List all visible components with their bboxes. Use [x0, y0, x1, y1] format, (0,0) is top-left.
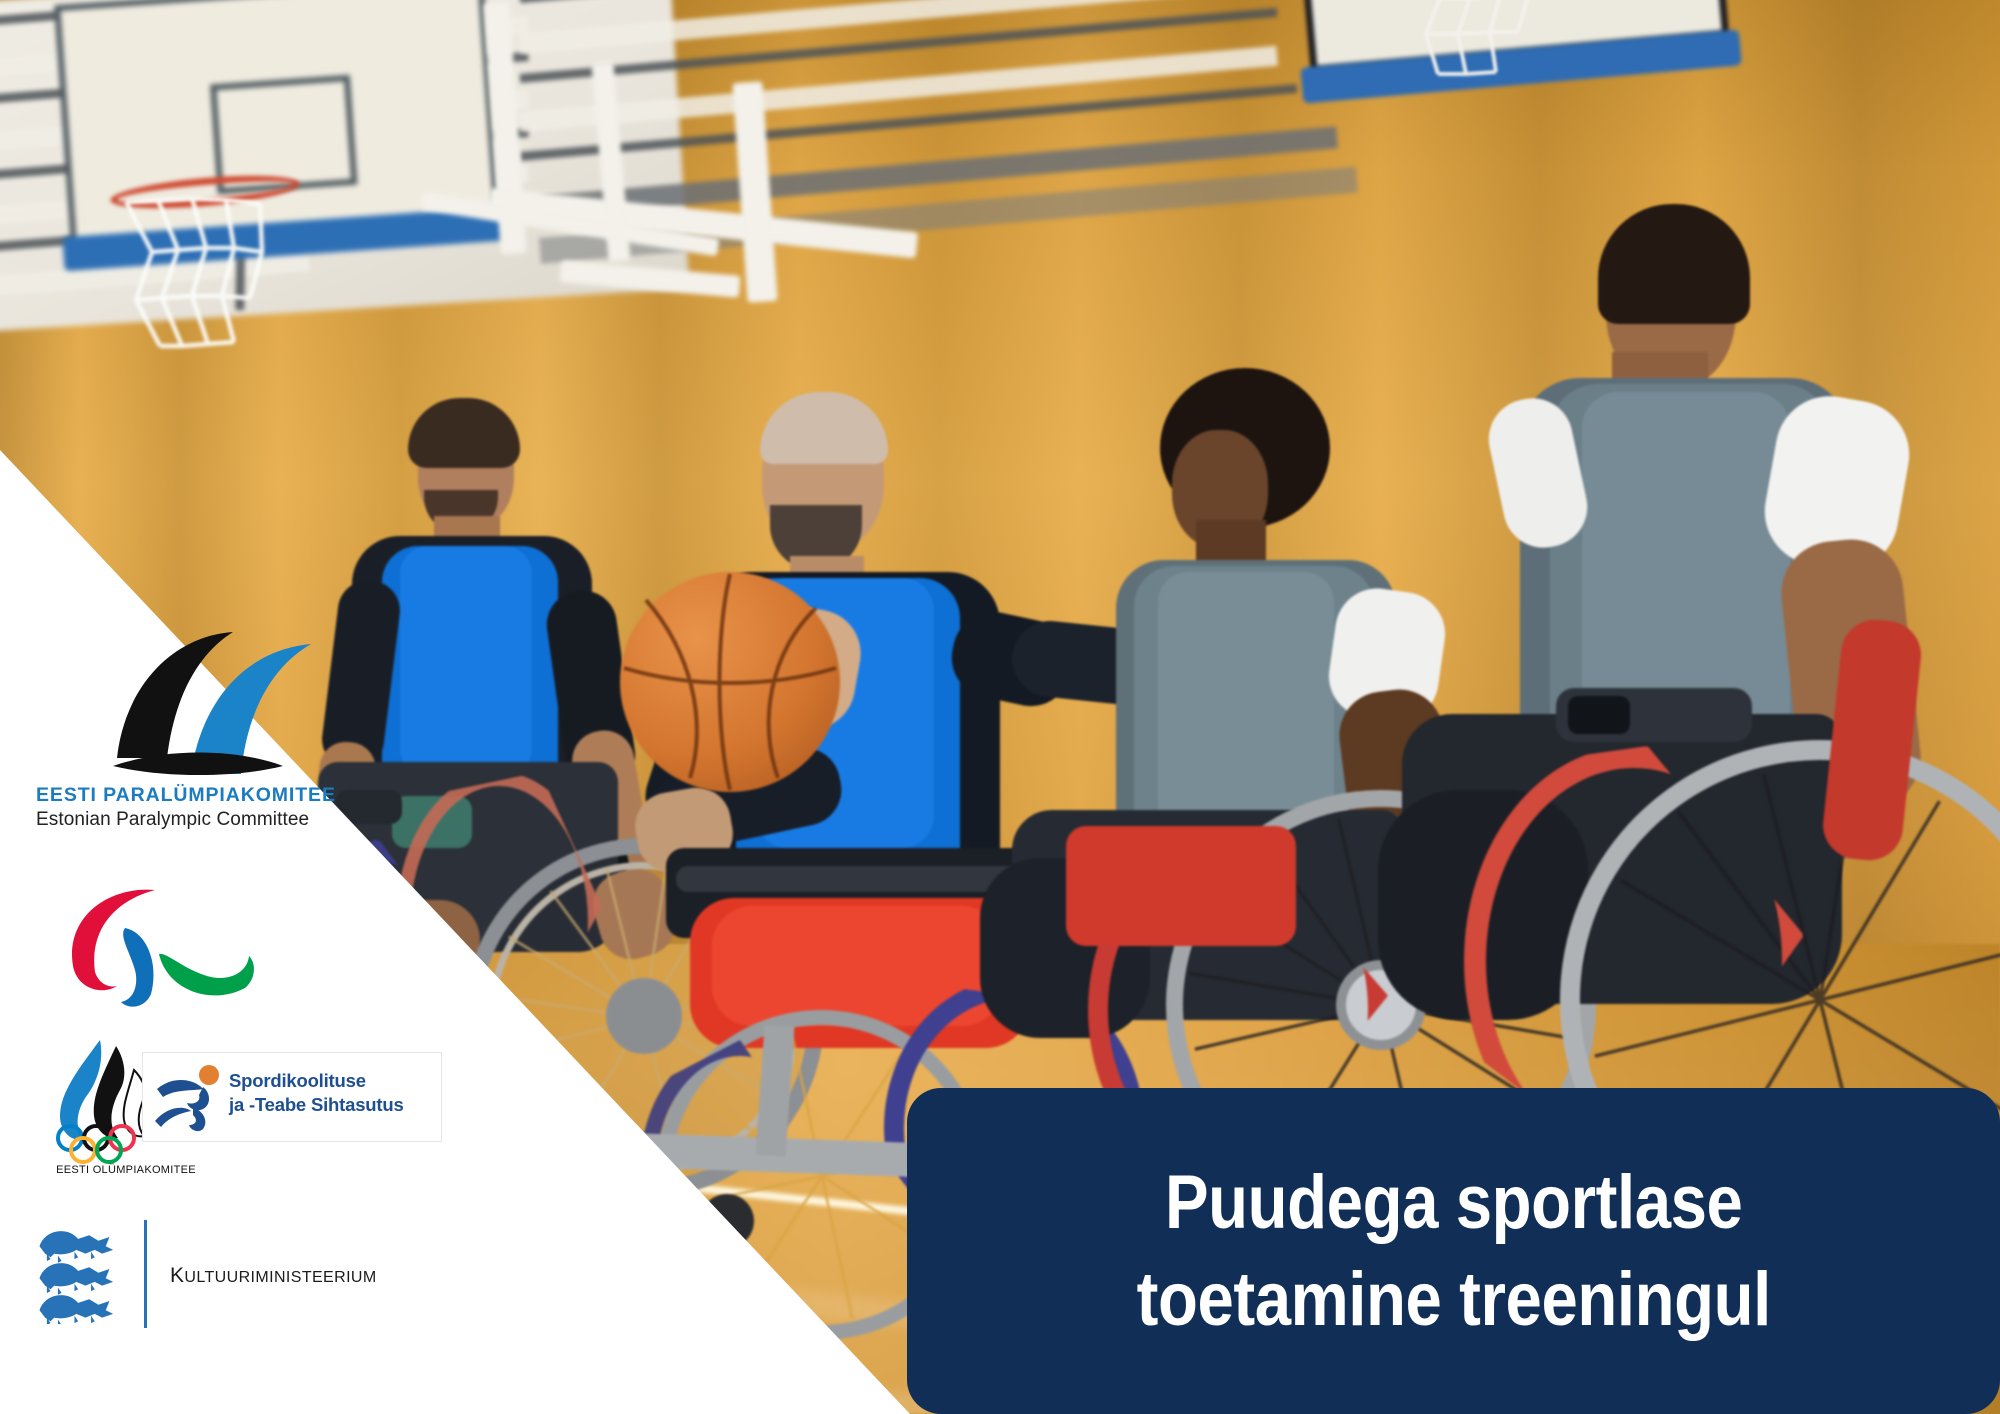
ministry-name: KULTUURIMINISTEERIUM — [170, 1264, 377, 1288]
logo-paralympic-agitos — [55, 880, 265, 1010]
foundation-line1: Spordikoolituse — [229, 1069, 404, 1093]
poster-canvas: EESTI PARALÜMPIAKOMITEE Estonian Paralym… — [0, 0, 2000, 1414]
running-figure-icon — [153, 1063, 233, 1135]
title-banner: Puudega sportlase toetamine treeningul — [907, 1088, 2000, 1414]
ministry-name-initial: K — [170, 1264, 184, 1287]
logo-estonian-paralympic-committee: EESTI PARALÜMPIAKOMITEE Estonian Paralym… — [20, 630, 450, 831]
hoop-net-left — [122, 196, 287, 356]
ministry-divider — [144, 1220, 147, 1328]
foundation-text: Spordikoolituse ja -Teabe Sihtasutus — [229, 1069, 404, 1116]
epc-name-en: Estonian Paralympic Committee — [36, 809, 450, 831]
logo-sports-training-foundation: Spordikoolituse ja -Teabe Sihtasutus — [142, 1052, 442, 1142]
title-line-2: toetamine treeningul — [1136, 1251, 1770, 1348]
wheel-hub — [606, 978, 682, 1054]
epc-swoosh-mark-icon — [105, 630, 355, 780]
three-lions-crest-icon — [30, 1224, 125, 1324]
hoop-net-right — [1418, 0, 1588, 93]
logo-ministry-of-culture: KULTUURIMINISTEERIUM — [22, 1220, 452, 1330]
agitos-icon — [55, 880, 265, 1010]
epc-name-et: EESTI PARALÜMPIAKOMITEE — [36, 784, 450, 807]
ministry-name-rest: ULTUURIMINISTEERIUM — [184, 1269, 376, 1286]
epc-text-block: EESTI PARALÜMPIAKOMITEE Estonian Paralym… — [20, 784, 450, 831]
logo-row-olympic-and-foundation: EESTI OLÜMPIAKOMITEE Spordikoolituse ja … — [22, 1030, 452, 1180]
olympic-committee-caption: EESTI OLÜMPIAKOMITEE — [36, 1164, 216, 1176]
foundation-line2: ja -Teabe Sihtasutus — [229, 1093, 404, 1117]
title-line-1: Puudega sportlase — [1165, 1154, 1742, 1251]
wheelchair-seat-red — [1066, 826, 1296, 946]
